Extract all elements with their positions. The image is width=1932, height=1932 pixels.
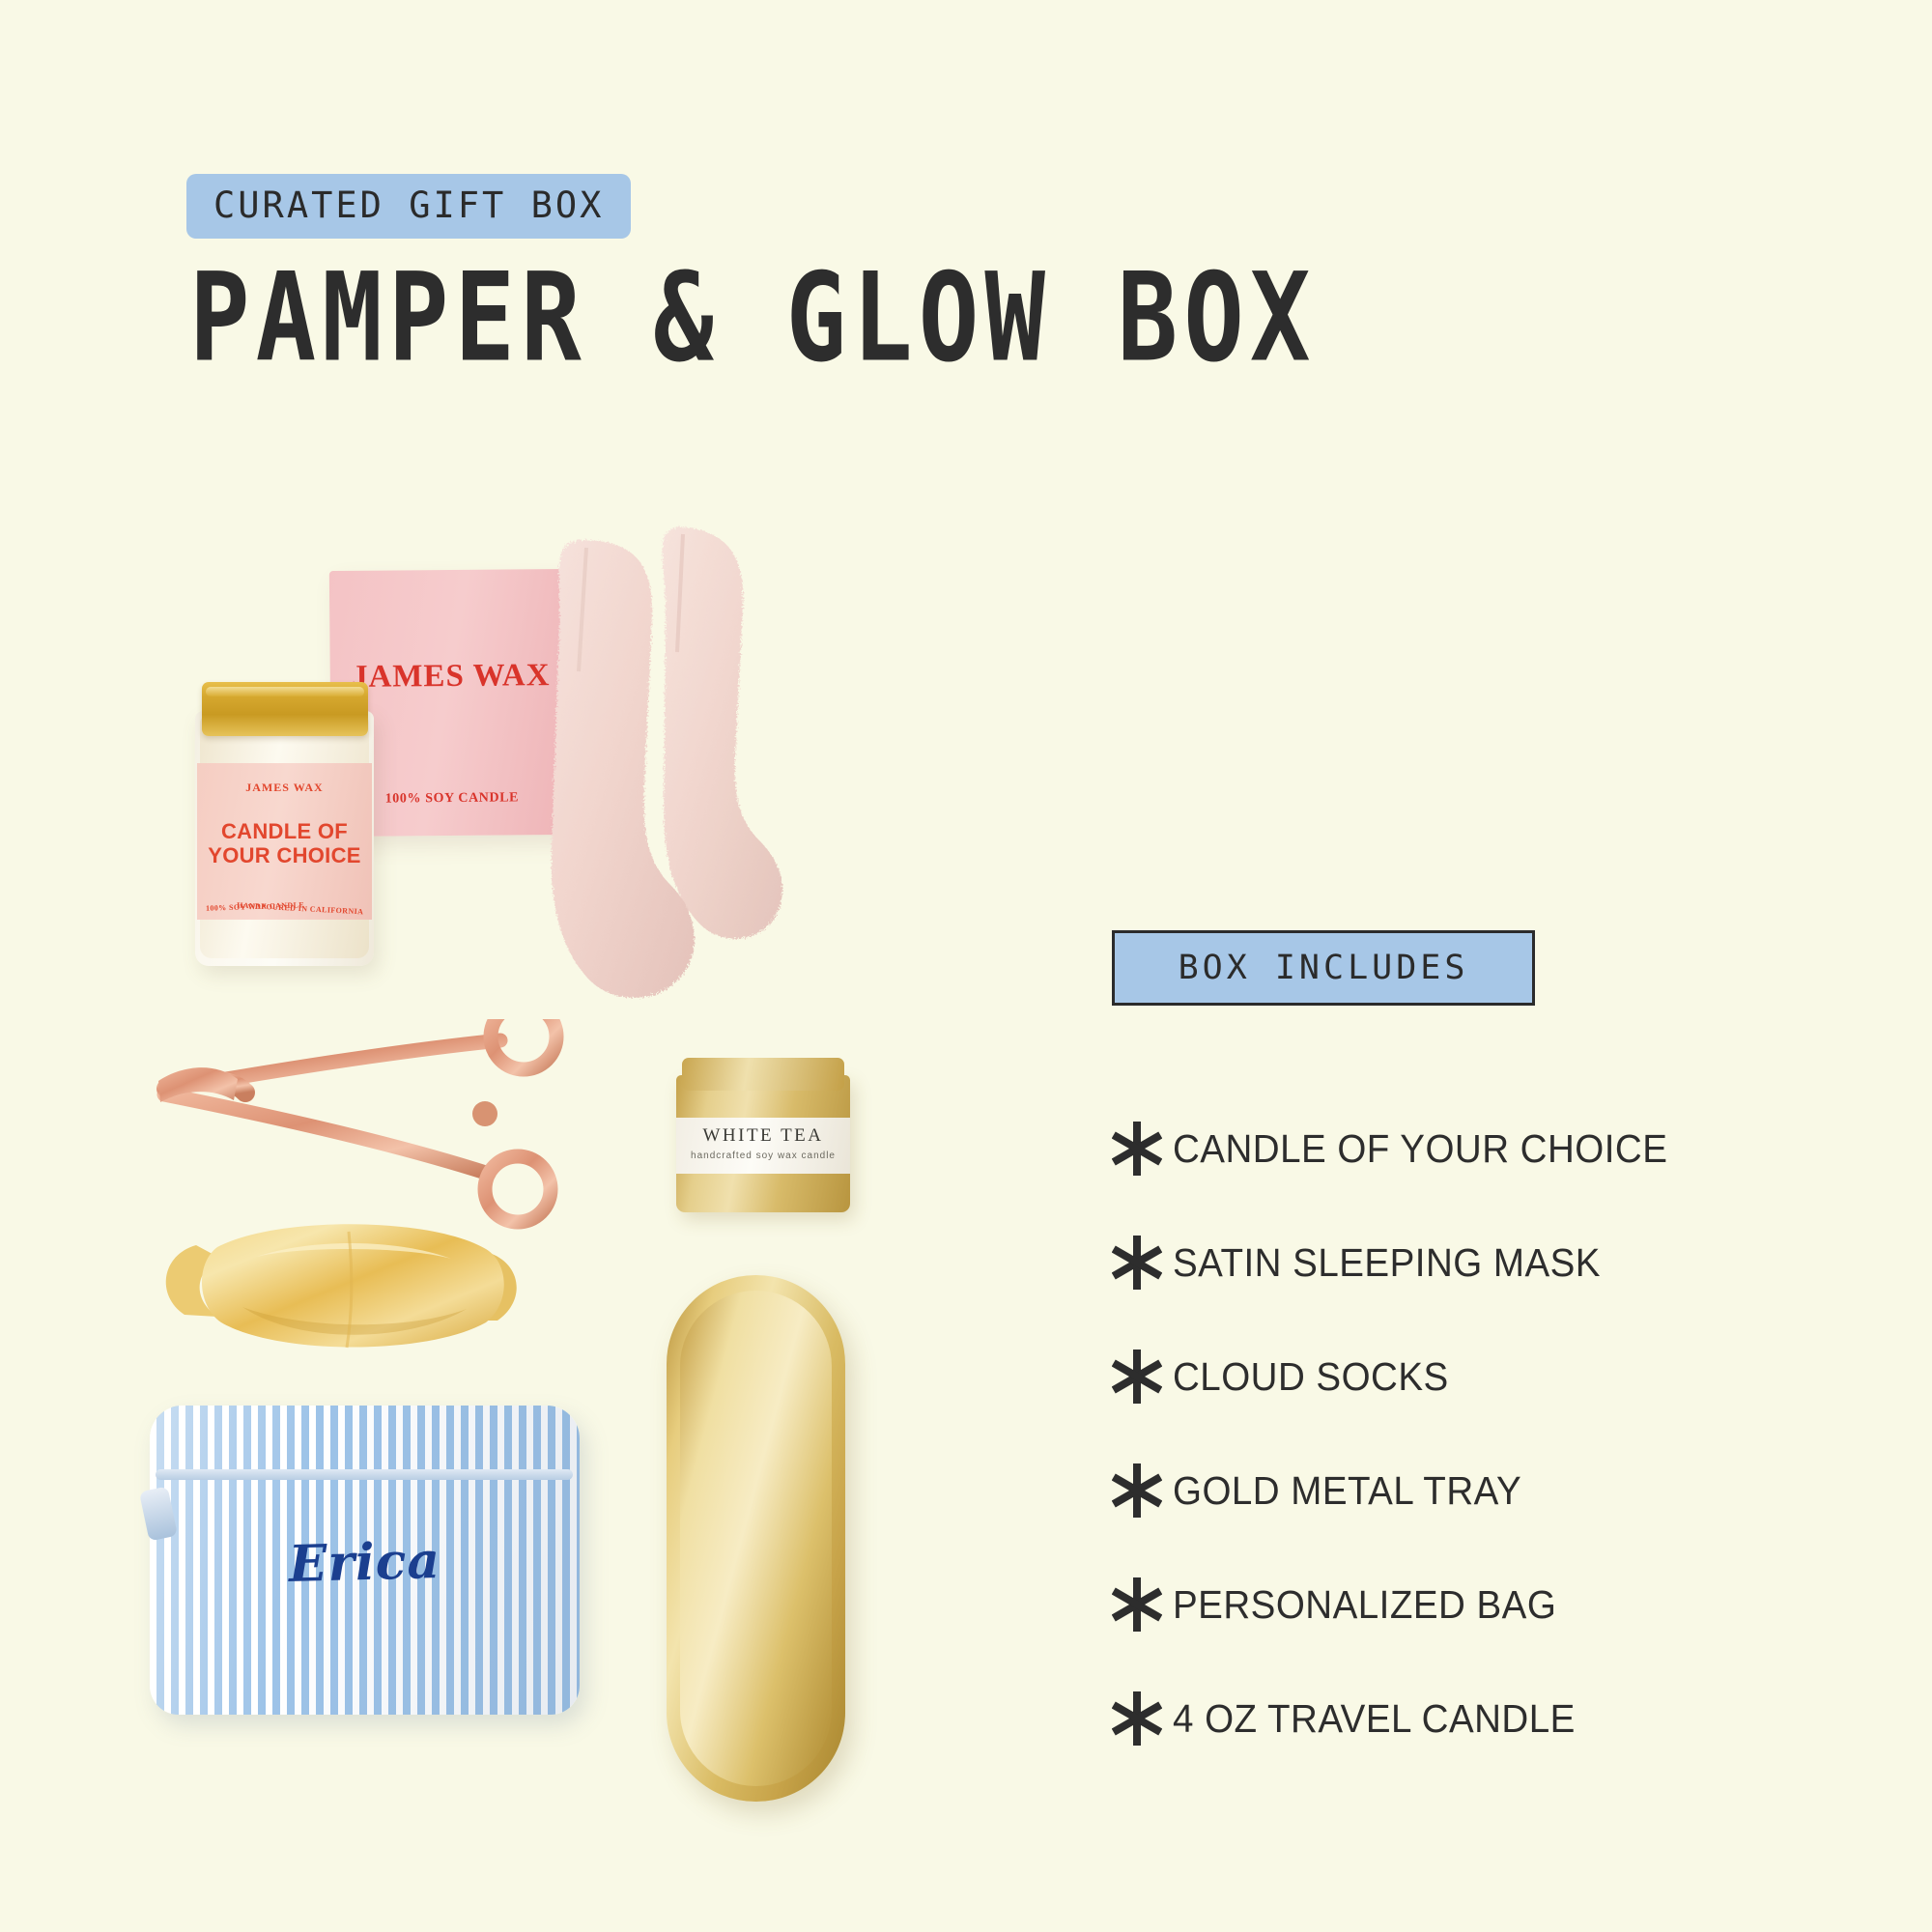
asterisk-star-icon (1101, 1691, 1173, 1746)
list-item: 4 OZ TRAVEL CANDLE (1101, 1662, 1835, 1776)
tin-label: WHITE TEA handcrafted soy wax candle (676, 1118, 850, 1174)
jar-label: JAMES WAX CANDLE OF YOUR CHOICE 100% SOY… (197, 763, 372, 920)
page-title: PAMPER & GLOW BOX (189, 256, 1316, 379)
product-sleep-mask (150, 1203, 555, 1377)
box-includes-list: CANDLE OF YOUR CHOICE SATIN SLEEPING MAS… (1101, 1092, 1835, 1776)
tin-cap (682, 1058, 844, 1091)
list-item-label: SATIN SLEEPING MASK (1173, 1240, 1601, 1286)
asterisk-star-icon (1101, 1577, 1173, 1632)
list-item: CLOUD SOCKS (1101, 1320, 1835, 1434)
tray-inner-surface (680, 1291, 832, 1786)
list-item-label: CLOUD SOCKS (1173, 1354, 1449, 1400)
tin-scent-name: WHITE TEA (676, 1125, 850, 1147)
product-cloud-socks (536, 517, 797, 1038)
gift-box-graphic: CURATED GIFT BOX PAMPER & GLOW BOX JAMES… (0, 0, 1932, 1932)
list-item-label: 4 OZ TRAVEL CANDLE (1173, 1696, 1576, 1742)
jar-label-line2: YOUR CHOICE (208, 843, 361, 867)
tin-subtitle: handcrafted soy wax candle (676, 1151, 850, 1161)
box-includes-badge: BOX INCLUDES (1112, 930, 1535, 1006)
list-item-label: GOLD METAL TRAY (1173, 1468, 1521, 1514)
product-travel-tin: WHITE TEA handcrafted soy wax candle (676, 1058, 850, 1212)
product-gold-tray (667, 1275, 845, 1802)
asterisk-star-icon (1101, 1350, 1173, 1404)
list-item: PERSONALIZED BAG (1101, 1548, 1835, 1662)
eyebrow-badge: CURATED GIFT BOX (186, 174, 631, 239)
list-item: GOLD METAL TRAY (1101, 1434, 1835, 1548)
bag-embroidered-name: Erica (149, 1527, 580, 1598)
list-item-label: CANDLE OF YOUR CHOICE (1173, 1126, 1667, 1172)
jar-label-main: CANDLE OF YOUR CHOICE (197, 819, 372, 867)
jar-label-line1: CANDLE OF (221, 819, 348, 843)
list-item-label: PERSONALIZED BAG (1173, 1582, 1556, 1628)
product-wick-trimmer (145, 1019, 570, 1232)
jar-gold-lid (202, 682, 368, 736)
product-cosmetic-bag: Erica (150, 1406, 580, 1715)
asterisk-star-icon (1101, 1463, 1173, 1518)
asterisk-star-icon (1101, 1236, 1173, 1290)
product-candle-jar: JAMES WAX CANDLE OF YOUR CHOICE 100% SOY… (195, 667, 374, 966)
list-item: CANDLE OF YOUR CHOICE (1101, 1092, 1835, 1206)
jar-label-brand: JAMES WAX (197, 781, 372, 795)
list-item: SATIN SLEEPING MASK (1101, 1206, 1835, 1320)
asterisk-star-icon (1101, 1122, 1173, 1176)
bag-zipper (156, 1469, 573, 1480)
